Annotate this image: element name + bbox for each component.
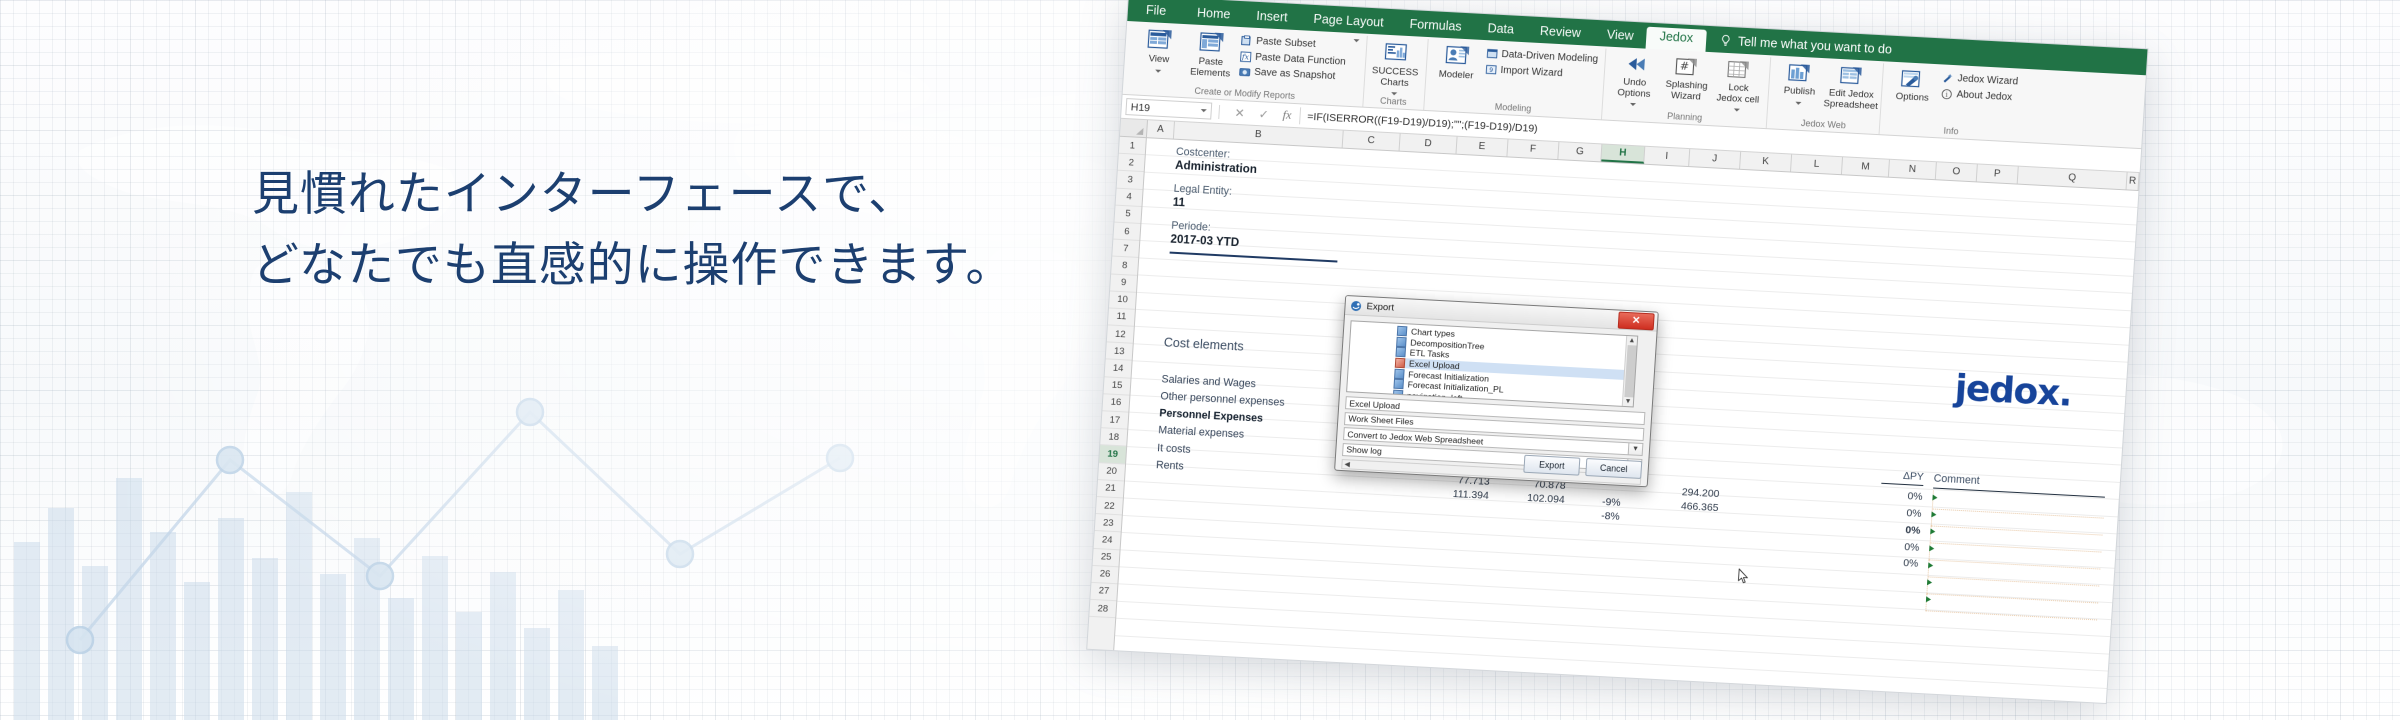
about-jedox-label: About Jedox — [1956, 88, 2012, 104]
hero-banner: 見慣れたインターフェースで、 どなたでも直感的に操作できます。 Salaries… — [0, 0, 2400, 720]
row-header-2[interactable]: 2 — [1118, 154, 1145, 173]
save-as-snapshot-label: Save as Snapshot — [1254, 66, 1336, 84]
svg-text:#: # — [1680, 59, 1690, 72]
splashing-wizard-icon: # — [1674, 56, 1701, 79]
row-header-22[interactable]: 22 — [1096, 497, 1123, 516]
headline-line-1: 見慣れたインターフェースで、 — [252, 158, 1172, 229]
report-field-periode: Periode: 2017-03 YTD — [1170, 220, 1253, 252]
modeler-button[interactable]: Modeler — [1433, 41, 1481, 82]
view-caret-down-icon[interactable] — [1155, 69, 1161, 72]
num-r3-c3: -8% — [1575, 508, 1632, 525]
scroll-up-arrow-icon[interactable]: ▲ — [1628, 337, 1635, 344]
row-header-4[interactable]: 4 — [1116, 188, 1143, 207]
modeler-label: Modeler — [1438, 70, 1473, 83]
num-r3-c1 — [1423, 500, 1500, 518]
name-box-caret-down-icon[interactable] — [1201, 109, 1207, 112]
row-header-7[interactable]: 7 — [1112, 240, 1139, 259]
row-header-8[interactable]: 8 — [1111, 257, 1138, 276]
options-icon — [1900, 68, 1927, 91]
file-blue-icon — [1394, 368, 1405, 379]
undo-icon — [1622, 53, 1649, 76]
snapshot-icon — [1239, 66, 1251, 78]
export-button[interactable]: Export — [1523, 455, 1580, 476]
report-header-block: Costcenter: Administration Legal Entity:… — [1169, 146, 1258, 261]
edit-jedox-spreadsheet-icon — [1839, 65, 1866, 88]
paste-subset-label: Paste Subset — [1256, 35, 1316, 52]
create-reports-small-buttons: Paste Subset fx Paste Data Function — [1239, 31, 1347, 84]
row-header-12[interactable]: 12 — [1107, 325, 1134, 344]
row-header-24[interactable]: 24 — [1094, 531, 1121, 550]
ribbon-group-charts: SUCCESS Charts Charts — [1363, 36, 1428, 110]
column-header-r[interactable]: R — [2127, 172, 2140, 190]
column-header-o[interactable]: O — [1936, 162, 1978, 181]
publish-icon — [1787, 62, 1814, 85]
about-jedox-icon: i — [1941, 88, 1953, 100]
num-r3-c2 — [1499, 504, 1576, 522]
file-blue-icon — [1393, 379, 1404, 390]
column-header-a[interactable]: A — [1147, 120, 1175, 138]
scroll-left-arrow-icon[interactable]: ◀ — [1344, 460, 1350, 468]
view-grid-icon — [1146, 28, 1173, 53]
modeler-icon — [1444, 44, 1471, 69]
column-header-h[interactable]: H — [1601, 144, 1645, 163]
report-section-title: Cost elements — [1163, 335, 1244, 353]
jedox-app-icon — [1350, 300, 1362, 312]
spreadsheet-area: 1 2 3 4 5 6 7 8 9 10 11 12 13 14 15 16 1… — [1087, 137, 2138, 703]
info-small-buttons: Jedox Wizard i About Jedox — [1941, 68, 2019, 104]
column-header-m[interactable]: M — [1842, 157, 1890, 176]
row-header-6[interactable]: 6 — [1113, 223, 1140, 242]
splashing-wizard-button[interactable]: # Splashing Wizard — [1663, 54, 1712, 104]
create-reports-expand-caret-icon[interactable] — [1353, 39, 1359, 42]
mouse-cursor-icon — [1738, 568, 1750, 585]
file-blue-icon — [1395, 347, 1406, 358]
svg-text:i: i — [1946, 91, 1949, 99]
report-field-legal-entity: Legal Entity: 11 — [1172, 183, 1255, 215]
ribbon-group-jedox-web: Publish Edit Jedox Spreadsheet Jedox Web — [1767, 57, 1884, 134]
paste-subset-icon — [1241, 35, 1253, 47]
scroll-down-arrow-icon[interactable]: ▼ — [1624, 398, 1631, 405]
paste-elements-icon — [1198, 31, 1225, 56]
cancel-button[interactable]: Cancel — [1585, 458, 1642, 479]
lock-jedox-caret-down-icon[interactable] — [1734, 109, 1740, 112]
export-file-listbox[interactable]: Chart types DecompositionTree ETL Tasks — [1346, 320, 1638, 407]
row-header-28[interactable]: 28 — [1089, 600, 1116, 619]
row-header-20[interactable]: 20 — [1098, 463, 1125, 482]
publish-caret-down-icon[interactable] — [1796, 101, 1802, 104]
ribbon-tab-insert[interactable]: Insert — [1243, 6, 1302, 30]
report-field-periode-value: 2017-03 YTD — [1170, 233, 1253, 252]
column-header-l[interactable]: L — [1791, 155, 1843, 175]
file-red-icon — [1395, 358, 1406, 369]
excel-screenshot-panel: File Home Insert Page Layout Formulas Da… — [1086, 0, 2147, 707]
success-charts-icon — [1383, 41, 1410, 66]
paste-elements-label: Paste Elements — [1187, 56, 1234, 80]
edit-jedox-spreadsheet-label: Edit Jedox Spreadsheet — [1823, 88, 1879, 112]
column-header-c[interactable]: C — [1343, 131, 1401, 151]
file-blue-icon — [1397, 326, 1408, 337]
jedox-wizard-button[interactable]: Jedox Wizard — [1942, 71, 2018, 88]
excel-window: File Home Insert Page Layout Formulas Da… — [1086, 0, 2148, 704]
jedox-wizard-label: Jedox Wizard — [1957, 72, 2018, 89]
save-as-snapshot-button[interactable]: Save as Snapshot — [1239, 65, 1345, 84]
insert-function-icon[interactable]: fx — [1282, 107, 1292, 122]
ribbon-tab-jedox[interactable]: Jedox — [1646, 27, 1707, 52]
row-header-19[interactable]: 19 — [1099, 446, 1126, 465]
lock-jedox-cell-icon — [1726, 59, 1753, 82]
ribbon-group-info: Options Jedox Wizard — [1880, 63, 2026, 141]
undo-options-button[interactable]: Undo Options — [1610, 51, 1659, 108]
ribbon-group-planning: Undo Options # Splashing Wizard — [1602, 49, 1771, 129]
column-header-k[interactable]: K — [1740, 152, 1792, 172]
cancel-formula-icon[interactable]: ✕ — [1234, 105, 1245, 120]
import-wizard-label: Import Wizard — [1500, 63, 1563, 80]
cell-grid[interactable]: Costcenter: Administration Legal Entity:… — [1114, 138, 2138, 703]
row-header-13[interactable]: 13 — [1106, 343, 1133, 362]
chevron-down-icon[interactable]: ▼ — [1629, 443, 1644, 457]
delta-py-column: ΔPY 0% 0% 0% 0% 0% — [1876, 470, 1924, 574]
column-header-e[interactable]: E — [1456, 137, 1508, 157]
ribbon-group-title-charts: Charts — [1370, 95, 1417, 108]
column-header-g[interactable]: G — [1558, 142, 1602, 161]
confirm-formula-icon[interactable]: ✓ — [1258, 107, 1269, 122]
ribbon-tab-file[interactable]: File — [1139, 1, 1184, 24]
about-jedox-button[interactable]: i About Jedox — [1941, 87, 2017, 104]
row-header-1[interactable]: 1 — [1119, 137, 1146, 156]
row-header-18[interactable]: 18 — [1100, 428, 1127, 447]
cost-elements-list: Salaries and Wages Other personnel expen… — [1155, 371, 1286, 480]
export-dialog-body: Chart types DecompositionTree ETL Tasks — [1335, 315, 1656, 484]
lock-jedox-cell-button[interactable]: Lock Jedox cell — [1714, 56, 1763, 113]
row-header-26[interactable]: 26 — [1091, 566, 1118, 585]
row-header-14[interactable]: 14 — [1105, 360, 1132, 379]
ribbon-group-modeling: Modeler Data-Driven Modeling — [1424, 39, 1607, 119]
column-header-n[interactable]: N — [1889, 160, 1937, 179]
edit-jedox-spreadsheet-button[interactable]: Edit Jedox Spreadsheet — [1827, 62, 1876, 112]
name-box-value: H19 — [1130, 101, 1150, 114]
row-header-21[interactable]: 21 — [1097, 480, 1124, 499]
view-button-label: View — [1148, 54, 1169, 66]
row-header-3[interactable]: 3 — [1117, 171, 1144, 190]
column-header-d[interactable]: D — [1400, 134, 1458, 154]
modeling-small-buttons: Data-Driven Modeling 9 Import Wizard — [1485, 44, 1599, 82]
select-all-corner[interactable] — [1120, 119, 1148, 137]
column-header-i[interactable]: I — [1644, 147, 1690, 166]
row-header-5[interactable]: 5 — [1114, 205, 1141, 224]
formula-bar-separator — [1218, 105, 1220, 119]
options-button[interactable]: Options — [1889, 66, 1937, 105]
success-charts-button[interactable]: SUCCESS Charts — [1371, 38, 1421, 97]
ribbon-tab-data[interactable]: Data — [1474, 19, 1528, 43]
lock-jedox-cell-label: Lock Jedox cell — [1714, 82, 1761, 106]
ribbon-group-create-modify-reports: View Paste Elements — [1127, 23, 1368, 106]
success-charts-label: SUCCESS Charts — [1371, 66, 1419, 90]
delta-py-value-5: 0% — [1876, 555, 1919, 574]
row-header-27[interactable]: 27 — [1090, 583, 1117, 602]
scrollbar-thumb[interactable] — [1624, 345, 1636, 397]
jedox-logo: jedox. — [1954, 368, 2073, 415]
column-header-p[interactable]: P — [1977, 164, 2019, 183]
column-header-j[interactable]: J — [1689, 149, 1741, 169]
report-field-legal-entity-value: 11 — [1172, 196, 1255, 215]
delta-py-rule — [1881, 483, 1923, 486]
row-header-15[interactable]: 15 — [1103, 377, 1130, 396]
report-field-costcenter-value: Administration — [1175, 159, 1258, 178]
data-driven-modeling-icon — [1486, 48, 1498, 60]
export-file-list: Chart types DecompositionTree ETL Tasks — [1347, 321, 1626, 405]
fx-icon: fx — [1240, 51, 1252, 63]
undo-caret-down-icon[interactable] — [1630, 103, 1636, 106]
hero-headline: 見慣れたインターフェースで、 どなたでも直感的に操作できます。 — [252, 158, 1172, 301]
view-button[interactable]: View — [1135, 26, 1184, 74]
publish-button[interactable]: Publish — [1776, 60, 1825, 106]
comment-header: Comment — [1933, 473, 2106, 494]
export-dialog[interactable]: Export ✕ Chart types — [1334, 295, 1659, 487]
row-header-17[interactable]: 17 — [1101, 411, 1128, 430]
jedox-wizard-icon — [1942, 73, 1954, 85]
lightbulb-icon — [1720, 35, 1732, 48]
row-header-25[interactable]: 25 — [1093, 548, 1120, 567]
splashing-wizard-label: Splashing Wizard — [1663, 80, 1710, 104]
headline-line-2: どなたでも直感的に操作できます。 — [252, 229, 1172, 300]
tell-me-label: Tell me what you want to do — [1737, 35, 1892, 57]
row-header-9[interactable]: 9 — [1110, 274, 1137, 293]
close-icon[interactable]: ✕ — [1618, 311, 1655, 330]
name-box[interactable]: H19 — [1125, 98, 1212, 120]
publish-label: Publish — [1783, 86, 1815, 98]
row-header-23[interactable]: 23 — [1095, 514, 1122, 533]
svg-text:fx: fx — [1241, 52, 1250, 61]
file-blue-icon — [1396, 337, 1407, 348]
report-field-costcenter: Costcenter: Administration — [1175, 146, 1258, 178]
svg-text:9: 9 — [1489, 67, 1493, 74]
row-header-11[interactable]: 11 — [1108, 308, 1135, 327]
column-header-f[interactable]: F — [1507, 139, 1559, 159]
ribbon-tab-view[interactable]: View — [1593, 25, 1647, 49]
options-label: Options — [1895, 92, 1929, 104]
import-wizard-icon: 9 — [1485, 64, 1497, 76]
formula-bar-buttons: ✕ ✓ fx — [1226, 104, 1300, 123]
row-header-10[interactable]: 10 — [1109, 291, 1136, 310]
paste-elements-button[interactable]: Paste Elements — [1187, 28, 1236, 80]
delta-py-header: ΔPY — [1881, 470, 1924, 483]
comment-column: Comment — [1925, 473, 2106, 621]
row-header-16[interactable]: 16 — [1102, 394, 1129, 413]
undo-options-label: Undo Options — [1611, 77, 1658, 101]
